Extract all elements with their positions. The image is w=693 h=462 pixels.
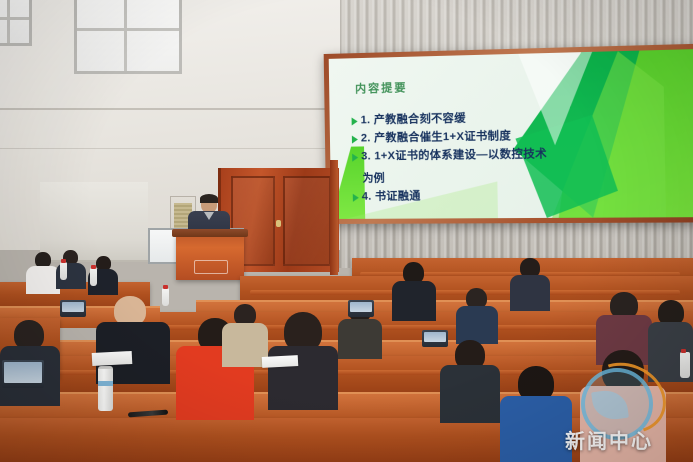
list-item	[222, 304, 268, 364]
water-bottle	[680, 352, 690, 378]
loose-papers	[262, 355, 299, 368]
loose-papers	[92, 351, 133, 366]
list-item	[392, 262, 436, 318]
list-item: 4. 书证融通	[353, 188, 612, 203]
list-item	[26, 252, 60, 292]
bullet-text: 2. 产教融合催生1+X证书制度	[361, 130, 511, 146]
bullet-text: 4. 书证融通	[362, 190, 421, 204]
bullet-text: 3. 1+X证书的体系建设—以数控技术	[361, 148, 547, 164]
list-item	[500, 366, 572, 462]
list-item: 2. 产教融合催生1+X证书制度	[352, 128, 611, 145]
wall-seam	[0, 148, 340, 149]
window-upper-left	[0, 0, 32, 46]
podium	[176, 234, 244, 280]
thermos-flask	[98, 366, 113, 411]
projection-screen-frame: 内容提要 1. 产教融合刻不容缓 2. 产教融合催生1+X证书制度 3. 1+X…	[324, 44, 693, 224]
slide-bullet-list: 1. 产教融合刻不容缓 2. 产教融合催生1+X证书制度 3. 1+X证书的体系…	[352, 110, 612, 209]
water-bottle	[60, 262, 67, 280]
window-upper-center	[74, 0, 182, 74]
open-laptop	[2, 360, 44, 388]
list-item	[456, 288, 498, 342]
open-laptop	[422, 330, 448, 347]
slide-title: 内容提要	[355, 79, 408, 96]
bullet-continuation-line: 为例	[352, 166, 611, 187]
water-bottle	[90, 268, 97, 286]
lecture-hall-photo: 内容提要 1. 产教融合刻不容缓 2. 产教融合催生1+X证书制度 3. 1+X…	[0, 0, 693, 462]
list-item	[440, 340, 500, 420]
list-item	[510, 258, 550, 310]
list-item: 1. 产教融合刻不容缓	[352, 110, 611, 128]
open-laptop	[348, 300, 374, 317]
door-knob	[276, 220, 281, 227]
bullet-text: 1. 产教融合刻不容缓	[361, 112, 466, 127]
open-laptop	[60, 300, 86, 317]
door-frame	[330, 160, 338, 275]
triangle-bullet-icon	[352, 135, 358, 143]
triangle-bullet-icon	[352, 153, 358, 161]
triangle-bullet-icon	[352, 117, 358, 125]
list-item: 3. 1+X证书的体系建设—以数控技术	[352, 147, 611, 164]
triangle-bullet-icon	[353, 194, 359, 202]
projection-screen: 内容提要 1. 产教融合刻不容缓 2. 产教融合催生1+X证书制度 3. 1+X…	[329, 49, 693, 219]
water-bottle	[162, 288, 169, 306]
